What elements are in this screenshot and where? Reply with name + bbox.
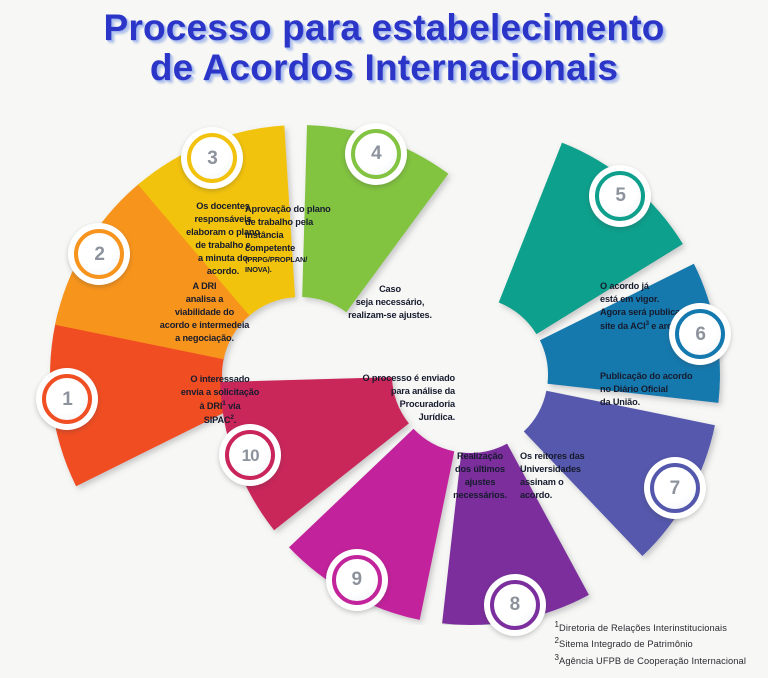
badge-ring: 1 bbox=[42, 374, 92, 424]
badge-number: 8 bbox=[510, 595, 520, 614]
process-step-label: Realização dos últimos ajustes necessári… bbox=[453, 451, 507, 500]
badge-number: 6 bbox=[695, 325, 705, 344]
title-line-2: de Acordos Internacionais bbox=[0, 48, 768, 88]
footnote-item: 3Agência UFPB de Cooperação Internaciona… bbox=[554, 652, 746, 669]
badge-ring: 5 bbox=[595, 171, 645, 221]
process-step-label: Publicação do acordo no Diário Oficial d… bbox=[600, 371, 692, 407]
badge-ring: 3 bbox=[187, 133, 237, 183]
badge-ring: 8 bbox=[490, 580, 540, 630]
process-step-text: O interessado envia a solicitação à DRI1… bbox=[150, 373, 290, 427]
process-step-badge-4[interactable]: 4 bbox=[345, 123, 407, 185]
footnote-text: Sitema Integrado de Patrimônio bbox=[559, 639, 693, 649]
process-step-badge-5[interactable]: 5 bbox=[589, 165, 651, 227]
process-step-text: O processo é enviado para análise da Pro… bbox=[315, 372, 455, 424]
process-step-label: Os reitores das Universidades assinam o … bbox=[520, 451, 585, 500]
badge-number: 2 bbox=[94, 245, 104, 264]
process-step-text: A DRI analisa a viabilidade do acordo e … bbox=[132, 280, 277, 345]
badge-ring: 7 bbox=[650, 463, 700, 513]
badge-number: 7 bbox=[670, 479, 680, 498]
process-step-sublabel: (PRPG/PROPLAN/ INOVA). bbox=[245, 255, 375, 275]
footnote-item: 1Diretoria de Relações Interinstituciona… bbox=[554, 619, 746, 636]
badge-ring: 9 bbox=[332, 555, 382, 605]
footnote-item: 2Sitema Integrado de Patrimônio bbox=[554, 635, 746, 652]
process-step-text: Publicação do acordo no Diário Oficial d… bbox=[600, 370, 740, 409]
badge-number: 1 bbox=[62, 390, 72, 409]
infographic-canvas: Processo para estabelecimento de Acordos… bbox=[0, 0, 768, 678]
process-step-badge-3[interactable]: 3 bbox=[181, 127, 243, 189]
process-step-badge-10[interactable]: 10 bbox=[219, 424, 281, 486]
process-step-label: Aprovação do plano de trabalho pela inst… bbox=[245, 204, 331, 253]
badge-number: 3 bbox=[207, 149, 217, 168]
title-line-1: Processo para estabelecimento bbox=[0, 8, 768, 48]
badge-ring: 6 bbox=[675, 309, 725, 359]
process-step-label: Caso seja necessário, realizam-se ajuste… bbox=[348, 284, 432, 320]
process-step-label: A DRI analisa a viabilidade do acordo e … bbox=[160, 281, 249, 343]
process-step-text: Os reitores das Universidades assinam o … bbox=[520, 450, 640, 502]
badge-number: 5 bbox=[615, 186, 625, 205]
footnotes: 1Diretoria de Relações Interinstituciona… bbox=[554, 619, 746, 669]
page-title: Processo para estabelecimento de Acordos… bbox=[0, 8, 768, 88]
process-step-badge-9[interactable]: 9 bbox=[326, 549, 388, 611]
badge-number: 4 bbox=[371, 144, 381, 163]
process-step-label: O processo é enviado para análise da Pro… bbox=[363, 373, 455, 422]
process-step-badge-7[interactable]: 7 bbox=[644, 457, 706, 519]
process-step-label: O interessado envia a solicitação à DRI1… bbox=[181, 374, 259, 425]
badge-ring: 2 bbox=[74, 229, 124, 279]
process-step-text: Caso seja necessário, realizam-se ajuste… bbox=[325, 283, 455, 322]
badge-ring: 10 bbox=[225, 430, 275, 480]
footnote-text: Agência UFPB de Cooperação Internacional bbox=[559, 656, 746, 666]
badge-ring: 4 bbox=[351, 129, 401, 179]
badge-number: 9 bbox=[352, 570, 362, 589]
process-step-text: Aprovação do plano de trabalho pela inst… bbox=[245, 203, 375, 275]
footnote-text: Diretoria de Relações Interinstitucionai… bbox=[559, 623, 727, 633]
process-step-badge-8[interactable]: 8 bbox=[484, 574, 546, 636]
badge-number: 10 bbox=[242, 447, 259, 464]
